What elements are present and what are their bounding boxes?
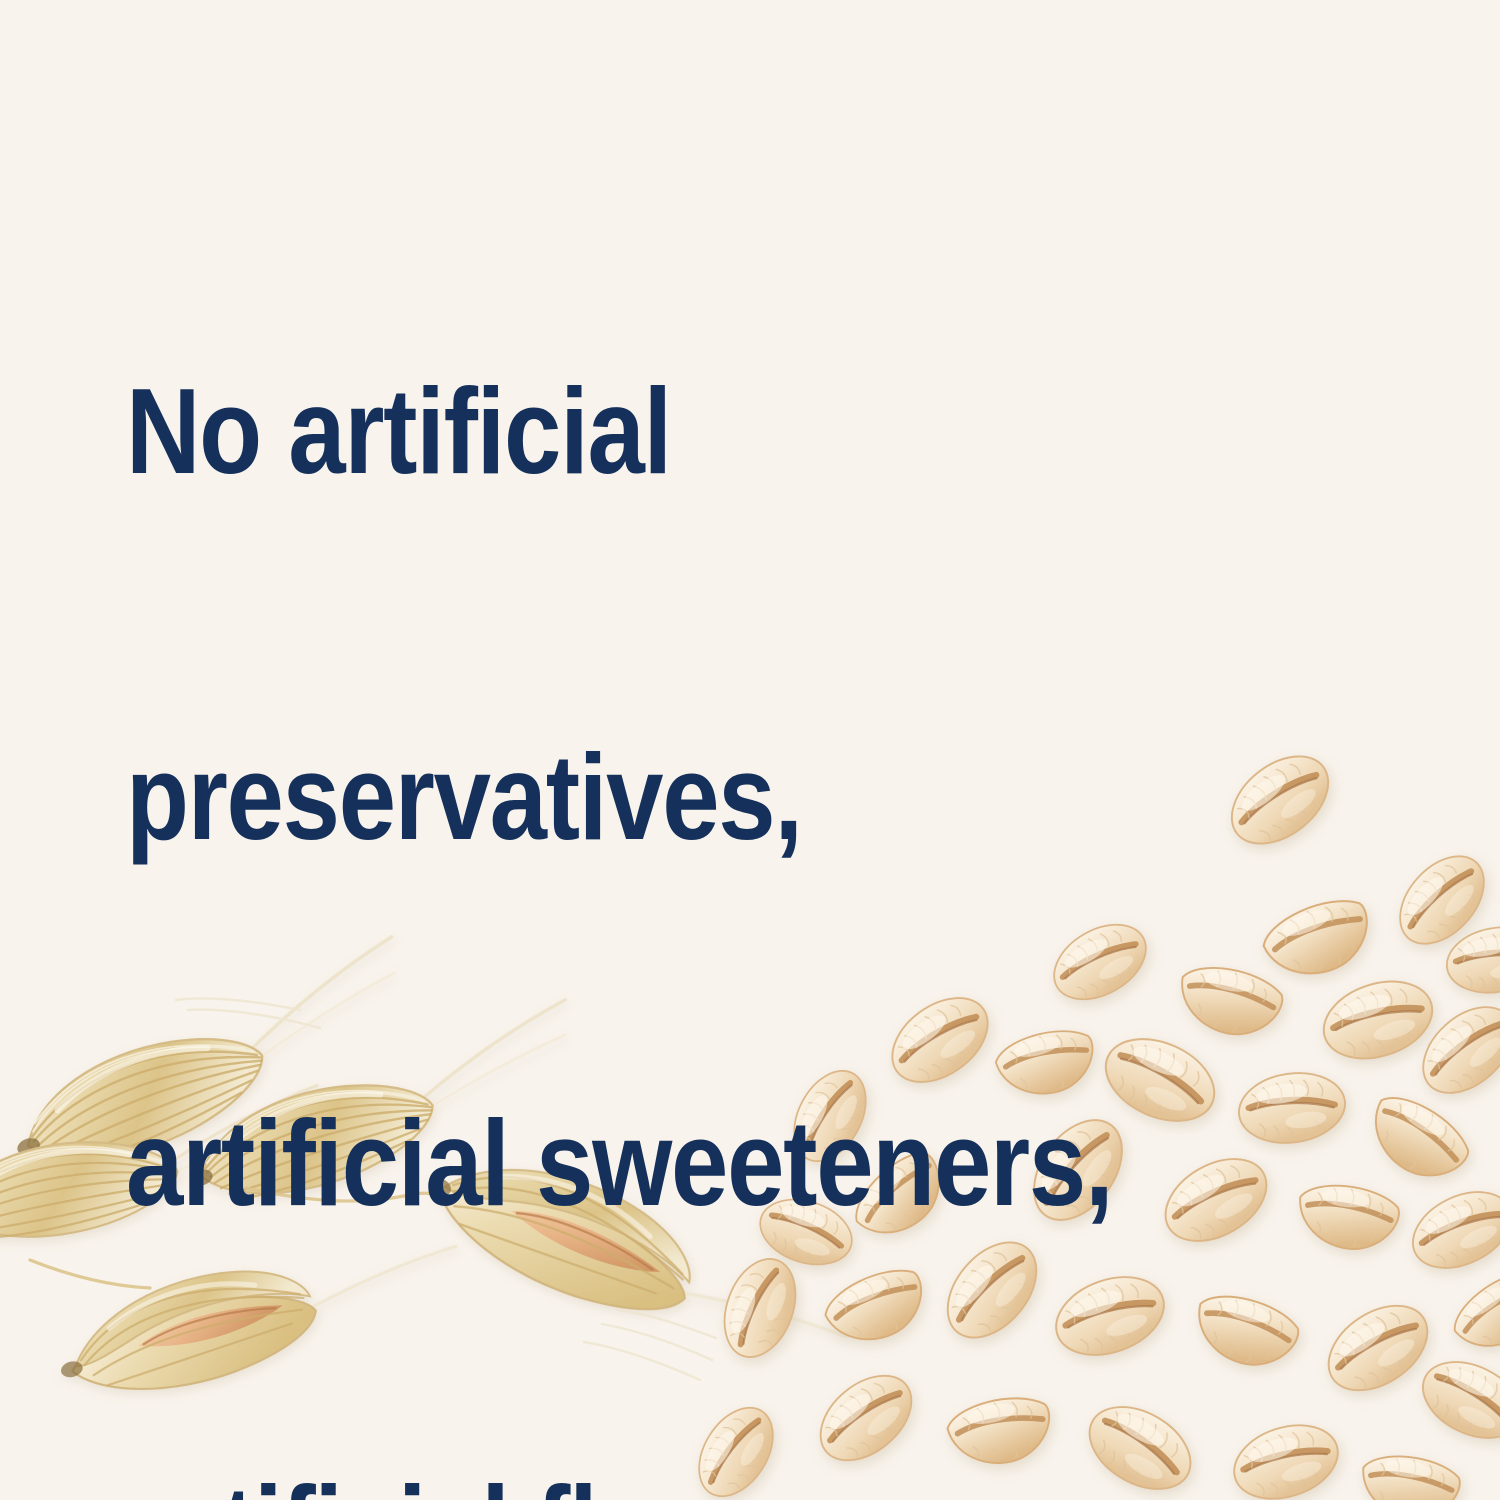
headline-line-1: No artificial xyxy=(126,370,1241,492)
headline-line-4: artificial flavors, or xyxy=(126,1468,1241,1500)
headline-line-2: preservatives, xyxy=(126,736,1241,858)
headline-line-3: artificial sweeteners, xyxy=(126,1102,1241,1224)
page-title: No artificial preservatives, artificial … xyxy=(126,126,1241,1500)
promo-banner: No artificial preservatives, artificial … xyxy=(0,0,1500,1500)
